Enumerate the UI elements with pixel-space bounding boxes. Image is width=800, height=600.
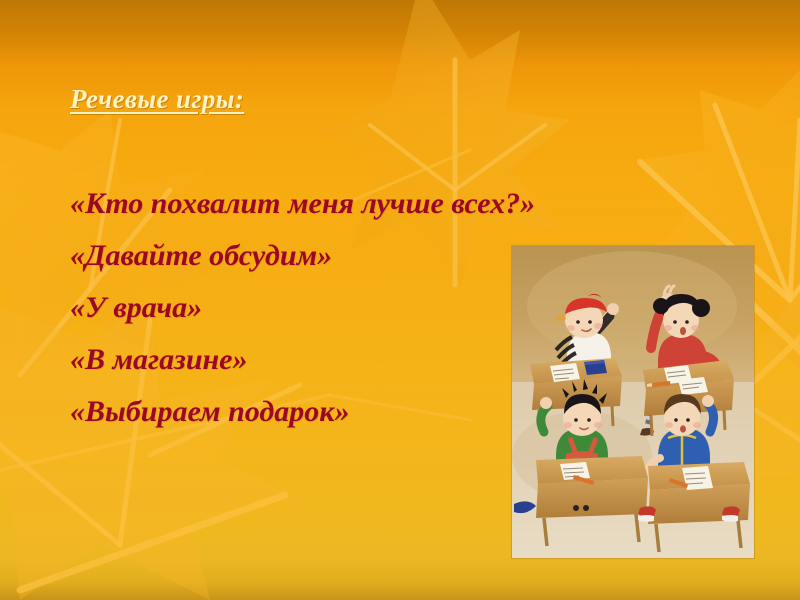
slide-title: Речевые игры: <box>70 84 244 115</box>
speech-games-list: «Кто похвалит меня лучше всех?» «Давайте… <box>70 178 535 438</box>
classroom-illustration <box>512 246 754 558</box>
list-item: «Давайте обсудим» <box>70 230 535 282</box>
paper <box>550 363 580 382</box>
list-item: «У врача» <box>70 282 535 334</box>
list-item: «Кто похвалит меня лучше всех?» <box>70 178 535 230</box>
presentation-slide: Речевые игры: «Кто похвалит меня лучше в… <box>0 0 800 600</box>
list-item: «В магазине» <box>70 334 535 386</box>
list-item: «Выбираем подарок» <box>70 386 535 438</box>
paper <box>678 377 708 395</box>
